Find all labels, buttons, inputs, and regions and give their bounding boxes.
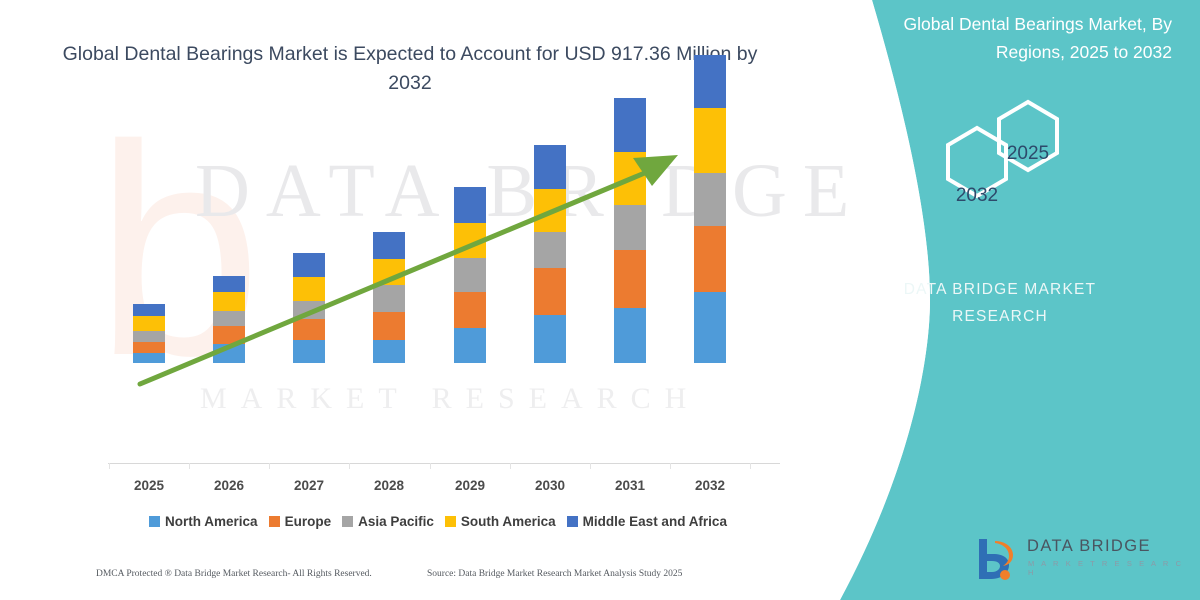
legend-label: Middle East and Africa xyxy=(583,514,727,529)
bar-segment xyxy=(293,319,325,340)
chart-gridline xyxy=(510,463,511,469)
chart-bar-2028[interactable] xyxy=(373,232,405,363)
panel-brand-line1: DATA BRIDGE MARKET xyxy=(850,276,1150,303)
bar-segment xyxy=(534,315,566,363)
legend-item[interactable]: North America xyxy=(149,514,258,529)
x-axis-label-2031: 2031 xyxy=(600,478,660,493)
dbmr-logo-tagline: M A R K E T R E S E A R C H xyxy=(1028,559,1190,577)
legend-swatch-icon xyxy=(149,516,160,527)
panel-brand: DATA BRIDGE MARKET RESEARCH xyxy=(850,276,1150,330)
bar-segment xyxy=(454,223,486,258)
chart-legend: North AmericaEuropeAsia PacificSouth Ame… xyxy=(108,514,768,529)
hexagon-2025-label: 2025 xyxy=(999,143,1057,165)
chart-gridline xyxy=(269,463,270,469)
bar-segment xyxy=(614,152,646,205)
bar-segment xyxy=(373,285,405,312)
bar-segment xyxy=(213,292,245,311)
bar-segment xyxy=(534,189,566,232)
x-axis-label-2025: 2025 xyxy=(119,478,179,493)
bar-segment xyxy=(614,98,646,152)
chart-gridline xyxy=(349,463,350,469)
bar-segment xyxy=(454,187,486,223)
chart-baseline xyxy=(108,463,780,464)
footer-source: Source: Data Bridge Market Research Mark… xyxy=(427,569,682,579)
legend-label: Asia Pacific xyxy=(358,514,434,529)
x-axis-label-2032: 2032 xyxy=(680,478,740,493)
chart-x-axis-labels: 20252026202720282029203020312032 xyxy=(0,478,800,500)
panel-heading: Global Dental Bearings Market, By Region… xyxy=(832,10,1172,66)
chart-gridline xyxy=(750,463,751,469)
bar-segment xyxy=(373,232,405,259)
legend-label: North America xyxy=(165,514,258,529)
bar-segment xyxy=(373,340,405,363)
x-axis-label-2026: 2026 xyxy=(199,478,259,493)
legend-item[interactable]: South America xyxy=(445,514,556,529)
bar-segment xyxy=(534,232,566,268)
legend-label: Europe xyxy=(285,514,332,529)
legend-swatch-icon xyxy=(567,516,578,527)
bar-segment xyxy=(454,292,486,328)
chart-bar-2026[interactable] xyxy=(213,276,245,363)
dbmr-logo: DATA BRIDGE M A R K E T R E S E A R C H xyxy=(965,535,1190,585)
hexagon-2032-label: 2032 xyxy=(948,185,1006,207)
chart-gridline xyxy=(430,463,431,469)
bar-segment xyxy=(293,253,325,277)
legend-item[interactable]: Asia Pacific xyxy=(342,514,434,529)
dbmr-logo-name: DATA BRIDGE xyxy=(1027,537,1151,556)
regions-panel: Global Dental Bearings Market, By Region… xyxy=(780,0,1200,600)
chart-bar-2031[interactable] xyxy=(614,98,646,363)
x-axis-label-2030: 2030 xyxy=(520,478,580,493)
bar-segment xyxy=(373,312,405,340)
infographic-canvas: b DATA BRIDGE MARKET RESEARCH Global Den… xyxy=(0,0,1200,600)
chart-bar-2032[interactable] xyxy=(694,55,726,363)
legend-label: South America xyxy=(461,514,556,529)
legend-item[interactable]: Middle East and Africa xyxy=(567,514,727,529)
legend-swatch-icon xyxy=(269,516,280,527)
bar-segment xyxy=(614,308,646,363)
bar-segment xyxy=(133,331,165,342)
bar-segment xyxy=(213,326,245,344)
chart-gridline xyxy=(670,463,671,469)
bar-segment xyxy=(213,311,245,326)
bar-segment xyxy=(133,353,165,363)
bar-segment xyxy=(133,316,165,331)
chart-bar-2030[interactable] xyxy=(534,145,566,363)
bar-segment xyxy=(293,340,325,363)
bar-segment xyxy=(293,277,325,301)
legend-swatch-icon xyxy=(342,516,353,527)
bar-segment xyxy=(694,55,726,108)
bar-segment xyxy=(694,226,726,292)
stacked-bar-chart: 20252026202720282029203020312032 xyxy=(0,0,800,500)
legend-item[interactable]: Europe xyxy=(269,514,332,529)
bar-segment xyxy=(534,268,566,315)
bar-segment xyxy=(213,276,245,292)
bar-segment xyxy=(694,173,726,226)
panel-brand-line2: RESEARCH xyxy=(850,303,1150,330)
bar-segment xyxy=(133,304,165,316)
bar-segment xyxy=(454,328,486,363)
bar-segment xyxy=(614,250,646,308)
x-axis-label-2029: 2029 xyxy=(440,478,500,493)
bar-segment xyxy=(614,205,646,250)
bar-segment xyxy=(694,292,726,363)
bar-segment xyxy=(373,259,405,285)
chart-bar-2029[interactable] xyxy=(454,187,486,363)
chart-gridline xyxy=(590,463,591,469)
footer-copyright: DMCA Protected ® Data Bridge Market Rese… xyxy=(96,569,372,579)
chart-gridline xyxy=(109,463,110,469)
bar-segment xyxy=(213,344,245,363)
x-axis-label-2028: 2028 xyxy=(359,478,419,493)
chart-gridline xyxy=(189,463,190,469)
x-axis-label-2027: 2027 xyxy=(279,478,339,493)
bar-segment xyxy=(133,342,165,353)
chart-bar-2025[interactable] xyxy=(133,304,165,363)
bar-segment xyxy=(694,108,726,173)
bar-segment xyxy=(534,145,566,189)
bar-segment xyxy=(454,258,486,292)
legend-swatch-icon xyxy=(445,516,456,527)
bar-segment xyxy=(293,301,325,319)
dbmr-logo-mark xyxy=(965,535,1021,583)
chart-bar-2027[interactable] xyxy=(293,253,325,363)
